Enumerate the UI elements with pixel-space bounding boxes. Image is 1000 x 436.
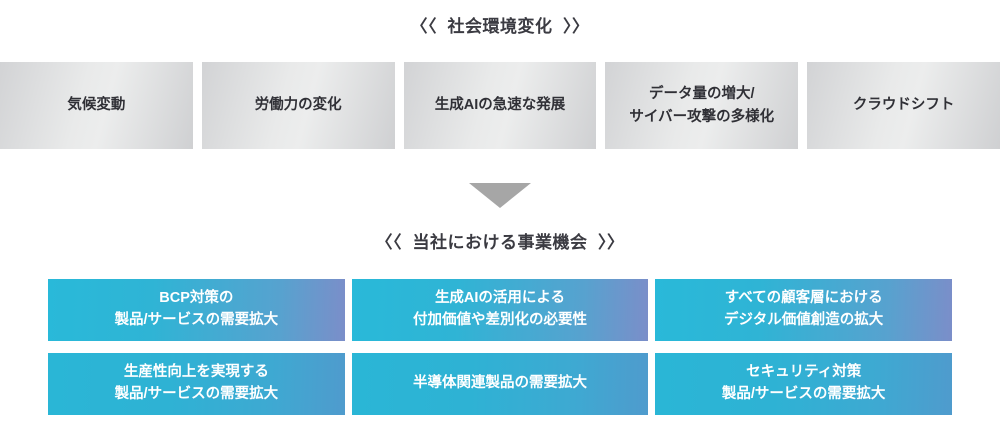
opportunity-box-digital-value-creation: すべての顧客層における デジタル価値創造の拡大 — [655, 279, 952, 341]
driver-box-generative-ai-development: 生成AIの急速な発展 — [404, 62, 597, 149]
opportunity-box-bcp-demand: BCP対策の 製品/サービスの需要拡大 — [48, 279, 345, 341]
driver-label: 気候変動 — [67, 94, 125, 116]
business-opportunity-heading: 〈〈 当社における事業機会 〉〉 — [0, 228, 1000, 253]
driver-label: クラウドシフト — [853, 94, 955, 116]
social-environment-change-heading: 〈〈 社会環境変化 〉〉 — [0, 12, 1000, 37]
opportunity-box-semiconductor-demand: 半導体関連製品の需要拡大 — [352, 353, 649, 415]
opportunity-label: すべての顧客層における デジタル価値創造の拡大 — [724, 288, 883, 332]
driver-box-data-volume-cyber-attacks: データ量の増大/ サイバー攻撃の多様化 — [605, 62, 798, 149]
driver-box-cloud-shift: クラウドシフト — [807, 62, 1000, 149]
opportunity-label: BCP対策の 製品/サービスの需要拡大 — [115, 288, 279, 332]
driver-box-labor-force-change: 労働力の変化 — [202, 62, 395, 149]
driver-box-climate-change: 気候変動 — [0, 62, 193, 149]
down-arrow-icon — [469, 183, 531, 208]
opportunity-box-generative-ai-value: 生成AIの活用による 付加価値や差別化の必要性 — [352, 279, 649, 341]
driver-label: データ量の増大/ サイバー攻撃の多様化 — [629, 83, 774, 128]
driver-label: 生成AIの急速な発展 — [435, 94, 566, 116]
opportunity-box-productivity-demand: 生産性向上を実現する 製品/サービスの需要拡大 — [48, 353, 345, 415]
opportunity-label: セキュリティ対策 製品/サービスの需要拡大 — [722, 362, 886, 406]
driver-label: 労働力の変化 — [255, 94, 342, 116]
business-opportunity-grid: BCP対策の 製品/サービスの需要拡大 生成AIの活用による 付加価値や差別化の… — [48, 279, 952, 415]
opportunity-label: 生産性向上を実現する 製品/サービスの需要拡大 — [115, 362, 279, 406]
opportunity-label: 生成AIの活用による 付加価値や差別化の必要性 — [413, 288, 587, 332]
opportunity-label: 半導体関連製品の需要拡大 — [413, 373, 587, 395]
social-environment-change-row: 気候変動 労働力の変化 生成AIの急速な発展 データ量の増大/ サイバー攻撃の多… — [0, 62, 1000, 149]
opportunity-box-security-demand: セキュリティ対策 製品/サービスの需要拡大 — [655, 353, 952, 415]
